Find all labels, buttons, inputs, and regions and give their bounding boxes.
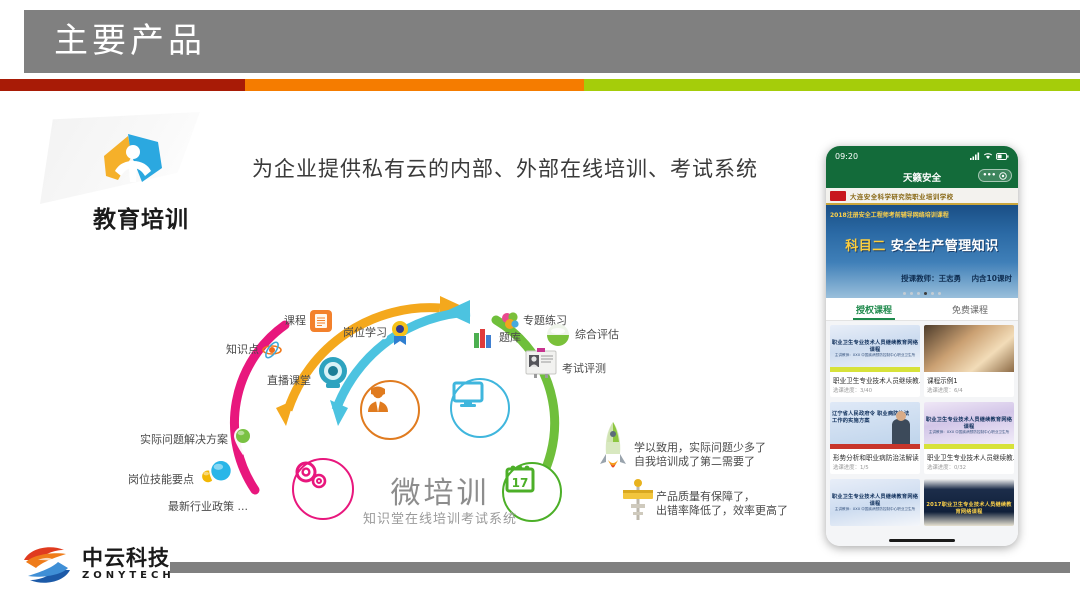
target-icon[interactable]	[999, 172, 1007, 180]
center-subtitle: 知识堂在线培训考试系统	[330, 508, 550, 527]
course-card[interactable]: 2017职业卫生专业技术人员继续教育网络课程	[924, 479, 1014, 526]
banner-body: 2018注册安全工程师考前辅导网络培训课程 科目二 安全生产管理知识 授课教师：…	[826, 205, 1018, 298]
id-card-icon	[524, 347, 558, 379]
course-row: 职业卫生专业技术人员继续教育网络课程 主讲教师：XXX 中国疾病预防控制中心职业…	[830, 325, 1014, 397]
tab-authorized-courses[interactable]: 授权课程	[826, 298, 922, 320]
banner-footer-info: 授课教师：王志勇 内含10课时	[901, 273, 1012, 284]
chip-course: 课程	[284, 310, 332, 332]
page-title: 主要产品	[54, 18, 206, 64]
thumb-title: 2017职业卫生专业技术人员继续教育网络课程	[924, 501, 1014, 515]
banner-subject-title: 安全生产管理知识	[891, 239, 999, 254]
course-thumbnail: 职业卫生专业技术人员继续教育网络课程 主讲教师：XXX 中国疾病预防控制中心职业…	[924, 402, 1014, 449]
monitor-icon	[450, 378, 510, 438]
thumb-subtitle: 主讲教师：XXX 中国疾病预防控制中心职业卫生所	[830, 507, 920, 512]
thumb-title: 职业卫生专业技术人员继续教育网络课程	[924, 416, 1014, 430]
note-quality-line1: 产品质量有保障了，	[656, 490, 788, 504]
course-thumbnail	[924, 325, 1014, 372]
banner-course-line: 2018注册安全工程师考前辅导网络培训课程	[830, 210, 949, 219]
gear-glyph	[294, 460, 328, 490]
chip-overall-eval: 综合评估	[545, 322, 619, 348]
pin-label-policy: 最新行业政策 ...	[168, 500, 248, 514]
chip-live-class-label: 直播课堂	[267, 374, 311, 388]
note-quality: 产品质量有保障了， 出错率降低了，效率更高了	[656, 490, 788, 518]
banner-subject-prefix: 科目二	[845, 239, 886, 254]
course-row: 辽宁省人民政府令 职业病防治法工作的实施方案 形势分析和职业病防治法解读 选课进…	[830, 402, 1014, 474]
signal-icon	[970, 152, 980, 160]
course-thumbnail: 职业卫生专业技术人员继续教育网络课程 主讲教师：XXX 中国疾病预防控制中心职业…	[830, 479, 920, 526]
headline-text: 为企业提供私有云的内部、外部在线培训、考试系统	[252, 153, 758, 183]
course-progress: 选课进度：0/32	[924, 463, 1014, 474]
course-title: 职业卫生专业技术人员继续教...	[924, 449, 1014, 463]
chip-job-study-label: 岗位学习	[343, 326, 387, 340]
brand-logo: 中云科技 ZONYTECH	[20, 544, 200, 590]
course-card[interactable]: 职业卫生专业技术人员继续教育网络课程 主讲教师：XXX 中国疾病预防控制中心职业…	[830, 479, 920, 526]
carousel-dot[interactable]	[931, 292, 934, 295]
books-icon	[473, 327, 495, 349]
chip-course-label: 课程	[284, 314, 306, 328]
course-card[interactable]: 职业卫生专业技术人员继续教育网络课程 主讲教师：XXX 中国疾病预防控制中心职业…	[830, 325, 920, 397]
chip-overall-eval-label: 综合评估	[575, 328, 619, 342]
more-icon[interactable]: •••	[983, 171, 996, 180]
center-title: 微培训	[350, 468, 530, 512]
phone-status-bar: 09:20	[826, 146, 1018, 166]
signpost-icon	[620, 478, 656, 522]
pin-label-policy-text: 最新行业政策 ...	[168, 500, 248, 514]
battery-icon	[996, 153, 1009, 160]
course-thumbnail: 辽宁省人民政府令 职业病防治法工作的实施方案	[830, 402, 920, 449]
phone-course-list[interactable]: 职业卫生专业技术人员继续教育网络课程 主讲教师：XXX 中国疾病预防控制中心职业…	[826, 321, 1018, 546]
thumb-subtitle: 主讲教师：XXX 中国疾病预防控制中心职业卫生所	[924, 430, 1014, 435]
person-tie-icon	[360, 380, 420, 440]
product-logo-block: 教育培训	[40, 112, 220, 240]
carousel-dot[interactable]	[917, 292, 920, 295]
navbar-capsule[interactable]: •••	[978, 169, 1012, 182]
banner-school-name: 大连安全科学研究院职业培训学校	[850, 191, 954, 201]
course-title: 形势分析和职业病防治法解读	[830, 449, 920, 463]
brand-name-en: ZONYTECH	[82, 570, 175, 582]
banner-lessons: 内含10课时	[972, 274, 1012, 283]
note-practical-line2: 自我培训成了第二需要了	[634, 455, 766, 469]
carousel-dot[interactable]	[903, 292, 906, 295]
pin-label-solution: 实际问题解决方案	[140, 424, 255, 456]
carousel-dot[interactable]	[938, 292, 941, 295]
education-pentagon-logo-icon	[98, 130, 170, 192]
brand-name-cn: 中云科技	[82, 546, 175, 570]
zonytech-swoosh-logo-icon	[20, 544, 76, 588]
banner-teacher: 授课教师：王志勇	[901, 274, 961, 283]
carousel-dot-active[interactable]	[924, 292, 927, 295]
navbar-title: 天籁安全	[903, 170, 941, 184]
rocket-icon	[598, 420, 628, 478]
course-progress: 选课进度：3/40	[830, 386, 920, 397]
banner-subject: 科目二 安全生产管理知识	[826, 235, 1018, 254]
course-title: 职业卫生专业技术人员继续教...	[830, 372, 920, 386]
thumb-accent-bar	[924, 444, 1014, 449]
phone-mockup: 09:20 天籁安全 •••	[826, 146, 1018, 546]
chip-live-class: 直播课堂	[267, 355, 351, 391]
map-pin-green-icon	[231, 424, 255, 456]
colorbar-segment-red	[0, 79, 245, 91]
course-card[interactable]: 课程示例1 选课进度：6/4	[924, 325, 1014, 397]
note-quality-line2: 出错率降低了，效率更高了	[656, 504, 788, 518]
chip-exam-assess-label: 考试评测	[562, 362, 606, 376]
footer-bar	[170, 562, 1070, 573]
course-row: 职业卫生专业技术人员继续教育网络课程 主讲教师：XXX 中国疾病预防控制中心职业…	[830, 479, 1014, 526]
note-practical: 学以致用，实际问题少多了 自我培训成了第二需要了	[634, 441, 766, 469]
wifi-icon	[983, 152, 993, 160]
document-icon	[310, 310, 332, 332]
course-thumbnail: 2017职业卫生专业技术人员继续教育网络课程	[924, 479, 1014, 526]
chip-question-bank-label: 题库	[499, 331, 521, 345]
note-practical-line1: 学以致用，实际问题少多了	[634, 441, 766, 455]
phone-navbar: 天籁安全 •••	[826, 166, 1018, 188]
person-tie-glyph	[362, 382, 394, 414]
thumb-subtitle: 主讲教师：XXX 中国疾病预防控制中心职业卫生所	[830, 353, 920, 358]
webcam-icon	[315, 355, 351, 391]
colorbar-segment-green	[584, 79, 1080, 91]
colorbar-segment-orange	[245, 79, 584, 91]
accent-colorbar	[0, 79, 1080, 91]
chip-job-study: 岗位学习	[343, 320, 410, 346]
course-progress: 选课进度：1/5	[830, 463, 920, 474]
carousel-dot[interactable]	[910, 292, 913, 295]
status-time: 09:20	[835, 152, 858, 161]
pin-label-skill-text: 岗位技能要点	[128, 473, 194, 487]
course-card[interactable]: 辽宁省人民政府令 职业病防治法工作的实施方案 形势分析和职业病防治法解读 选课进…	[830, 402, 920, 474]
home-indicator	[889, 539, 955, 542]
banner-school-strip: 大连安全科学研究院职业培训学校	[826, 188, 1018, 205]
thumb-accent-bar	[830, 367, 920, 372]
thumb-accent-bar	[830, 444, 920, 449]
thumb-title: 职业卫生专业技术人员继续教育网络课程	[830, 339, 920, 353]
medal-icon	[390, 320, 410, 346]
brand-text: 中云科技 ZONYTECH	[82, 546, 175, 582]
pin-label-solution-text: 实际问题解决方案	[140, 433, 228, 447]
map-pin-blue-icon	[205, 455, 237, 497]
chip-exam-assess: 考试评测	[524, 347, 606, 379]
sphere-icon	[545, 322, 571, 348]
thumb-title: 职业卫生专业技术人员继续教育网络课程	[830, 493, 920, 507]
status-icons	[970, 152, 1009, 160]
phone-banner[interactable]: 大连安全科学研究院职业培训学校 2018注册安全工程师考前辅导网络培训课程 科目…	[826, 188, 1018, 298]
course-progress: 选课进度：6/4	[924, 386, 1014, 397]
slide-root: 主要产品 教育培训 为企业提供私有云的内部、外部在线培训、考试系统	[0, 0, 1080, 608]
course-title: 课程示例1	[924, 372, 1014, 386]
monitor-glyph	[452, 380, 484, 408]
tab-free-courses[interactable]: 免费课程	[922, 298, 1018, 320]
course-thumbnail: 职业卫生专业技术人员继续教育网络课程 主讲教师：XXX 中国疾病预防控制中心职业…	[830, 325, 920, 372]
phone-tabs[interactable]: 授权课程 免费课程	[826, 298, 1018, 321]
balloons-icon	[500, 311, 520, 331]
course-card[interactable]: 职业卫生专业技术人员继续教育网络课程 主讲教师：XXX 中国疾病预防控制中心职业…	[924, 402, 1014, 474]
product-label: 教育培训	[66, 200, 216, 234]
school-logo-icon	[830, 191, 846, 201]
chip-knowledge-point-label: 知识点	[226, 343, 259, 357]
banner-carousel-dots[interactable]	[826, 292, 1018, 295]
